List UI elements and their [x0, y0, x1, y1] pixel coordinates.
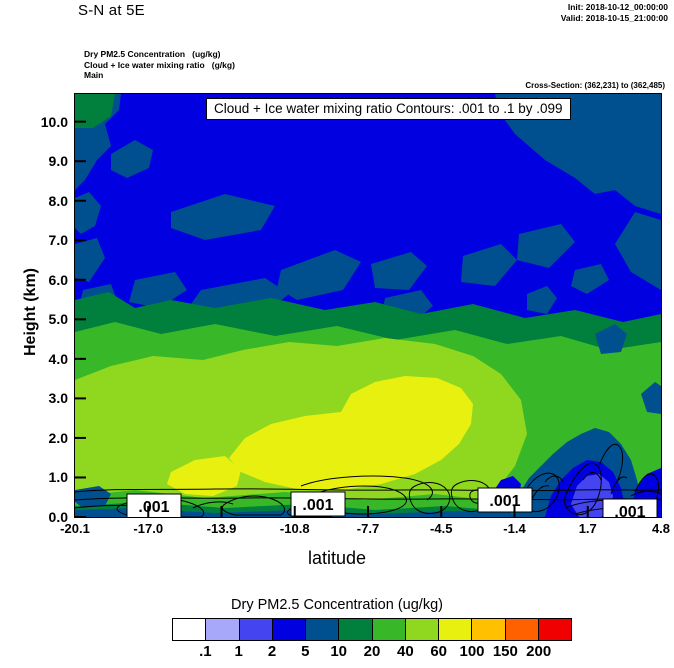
colorbar-tick-labels: .112510204060100150200: [172, 643, 572, 665]
y-tick-label: 9.0: [2, 153, 68, 169]
y-tick-label: 2.0: [2, 430, 68, 446]
contour-label-1: .001: [138, 499, 169, 516]
y-tick-label: 8.0: [2, 193, 68, 209]
colorbar-swatch: [506, 619, 539, 640]
colorbar-swatch: [273, 619, 306, 640]
colorbar-swatch: [240, 619, 273, 640]
colorbar-swatch: [373, 619, 406, 640]
cross-section-plot: .001 .001 .001 .001: [74, 93, 662, 518]
contour-label-4: .001: [614, 504, 645, 517]
field-captions: Dry PM2.5 Concentration (ug/kg) Cloud + …: [84, 49, 235, 81]
colorbar-swatch: [206, 619, 239, 640]
init-valid-times: Init: 2018-10-12_00:00:00 Valid: 2018-10…: [561, 2, 668, 24]
y-tick-label: 1.0: [2, 469, 68, 485]
colorbar-tick-label: 200: [509, 643, 569, 660]
y-tick-label: 3.0: [2, 390, 68, 406]
colorbar-swatch: [439, 619, 472, 640]
page-title: S-N at 5E: [78, 2, 145, 19]
x-axis-title: latitude: [0, 548, 674, 569]
y-tick-label: 10.0: [2, 114, 68, 130]
x-tick-label: -13.9: [187, 521, 257, 536]
y-axis-title: Height (km): [22, 237, 40, 387]
contour-label-2: .001: [302, 497, 333, 514]
contour-label-3: .001: [489, 493, 520, 510]
contour-banner: Cloud + Ice water mixing ratio Contours:…: [206, 98, 571, 120]
colorbar-strip: [172, 618, 572, 641]
x-tick-label: -10.8: [260, 521, 330, 536]
x-tick-label: -17.0: [113, 521, 183, 536]
colorbar-swatch: [306, 619, 339, 640]
init-time: Init: 2018-10-12_00:00:00: [561, 2, 668, 13]
x-tick-label: -20.1: [40, 521, 110, 536]
colorbar-swatch: [406, 619, 439, 640]
colorbar-title: Dry PM2.5 Concentration (ug/kg): [0, 597, 674, 613]
x-tick-label: 1.7: [553, 521, 623, 536]
cross-section-note: Cross-Section: (362,231) to (362,485): [525, 81, 665, 90]
colorbar-swatch: [339, 619, 372, 640]
colorbar-swatch: [539, 619, 571, 640]
x-tick-label: -7.7: [333, 521, 403, 536]
valid-time: Valid: 2018-10-15_21:00:00: [561, 13, 668, 24]
colorbar-swatch: [472, 619, 505, 640]
x-tick-label: -1.4: [480, 521, 550, 536]
x-tick-label: 4.8: [626, 521, 674, 536]
x-tick-label: -4.5: [406, 521, 476, 536]
colorbar-swatch: [173, 619, 206, 640]
